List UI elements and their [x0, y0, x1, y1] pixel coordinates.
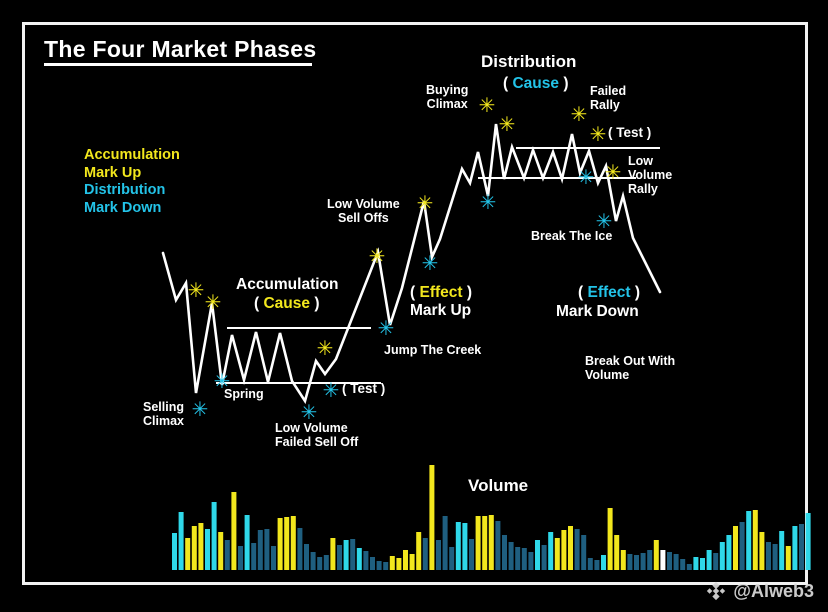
- volume-bar: [522, 548, 527, 570]
- volume-bar: [403, 550, 408, 570]
- volume-bar: [344, 540, 349, 570]
- volume-bar: [621, 550, 626, 570]
- volume-bar: [311, 552, 316, 570]
- poster-root: The Four Market Phases Accumulation Mark…: [0, 0, 828, 612]
- volume-bar: [515, 547, 520, 570]
- volume-bar: [443, 516, 448, 570]
- volume-bar: [271, 546, 276, 570]
- volume-bar: [264, 529, 269, 570]
- volume-bar: [660, 550, 665, 570]
- volume-bar: [390, 556, 395, 570]
- volume-bar: [449, 547, 454, 570]
- volume-bar: [792, 526, 797, 570]
- volume-bar: [720, 542, 725, 570]
- volume-bar: [212, 502, 217, 570]
- volume-bar: [535, 540, 540, 570]
- volume-bar: [601, 555, 606, 570]
- volume-bar: [291, 516, 296, 570]
- volume-bar: [469, 539, 474, 570]
- volume-bar: [581, 535, 586, 570]
- volume-bar: [799, 524, 804, 570]
- watermark: @Alweb3: [705, 580, 814, 602]
- volume-bar: [429, 465, 434, 570]
- volume-bar: [575, 529, 580, 570]
- volume-bar: [383, 562, 388, 570]
- volume-bar: [410, 554, 415, 570]
- volume-bar: [495, 521, 500, 570]
- volume-bar: [528, 552, 533, 570]
- volume-bar: [231, 492, 236, 570]
- volume-bar: [350, 539, 355, 570]
- volume-chart: [0, 0, 828, 612]
- volume-bar: [172, 533, 177, 570]
- volume-bar: [779, 531, 784, 570]
- volume-bar: [707, 550, 712, 570]
- volume-bar: [377, 561, 382, 570]
- volume-bar: [561, 530, 566, 570]
- volume-bar: [713, 553, 718, 570]
- volume-bar: [370, 557, 375, 570]
- volume-bar: [555, 538, 560, 570]
- volume-bar: [462, 523, 467, 570]
- volume-bar: [667, 552, 672, 570]
- volume-bar: [330, 538, 335, 570]
- volume-bar: [317, 557, 322, 570]
- volume-bar: [746, 511, 751, 570]
- volume-bar: [753, 510, 758, 570]
- volume-bar: [759, 532, 764, 570]
- volume-bar: [304, 544, 309, 570]
- volume-bar: [693, 557, 698, 570]
- volume-bar: [634, 555, 639, 570]
- volume-bar: [568, 526, 573, 570]
- volume-bar: [489, 515, 494, 570]
- volume-bar: [548, 532, 553, 570]
- volume-bar: [297, 528, 302, 570]
- diamond-logo-icon: [705, 580, 727, 602]
- volume-bar: [594, 560, 599, 570]
- volume-bar: [179, 512, 184, 570]
- volume-bar: [258, 530, 263, 570]
- volume-bar: [476, 516, 481, 570]
- volume-bar: [773, 544, 778, 570]
- volume-bar: [205, 529, 210, 570]
- volume-bar: [436, 540, 441, 570]
- volume-bar: [324, 555, 329, 570]
- volume-bar: [218, 532, 223, 570]
- volume-bar: [337, 545, 342, 570]
- volume-bar: [733, 526, 738, 570]
- volume-bar: [654, 540, 659, 570]
- volume-bar: [700, 558, 705, 570]
- volume-bar: [647, 550, 652, 570]
- volume-bar: [641, 553, 646, 570]
- volume-bar: [238, 546, 243, 570]
- volume-bar: [627, 554, 632, 570]
- volume-bar: [416, 532, 421, 570]
- volume-bar: [278, 518, 283, 570]
- volume-bar: [674, 554, 679, 570]
- volume-bar: [509, 542, 514, 570]
- volume-bar: [766, 542, 771, 570]
- volume-bar: [185, 538, 190, 570]
- volume-bar: [192, 526, 197, 570]
- volume-bar: [806, 513, 811, 570]
- watermark-handle: @Alweb3: [733, 581, 814, 602]
- volume-bar: [357, 548, 362, 570]
- volume-bar: [198, 523, 203, 570]
- volume-bar: [542, 545, 547, 570]
- volume-bar: [502, 535, 507, 570]
- volume-bar: [614, 535, 619, 570]
- volume-bar: [482, 516, 487, 570]
- volume-bar: [225, 540, 230, 570]
- volume-bar: [423, 538, 428, 570]
- volume-bar: [363, 551, 368, 570]
- volume-bar: [456, 522, 461, 570]
- volume-bar: [588, 558, 593, 570]
- volume-bar: [740, 522, 745, 570]
- volume-bar: [687, 564, 692, 570]
- volume-bar: [396, 558, 401, 570]
- volume-bar: [680, 559, 685, 570]
- volume-bar: [608, 508, 613, 570]
- volume-bar: [786, 546, 791, 570]
- volume-bar: [245, 515, 250, 570]
- volume-bar: [726, 535, 731, 570]
- volume-bar: [284, 517, 289, 570]
- volume-bar: [251, 543, 256, 570]
